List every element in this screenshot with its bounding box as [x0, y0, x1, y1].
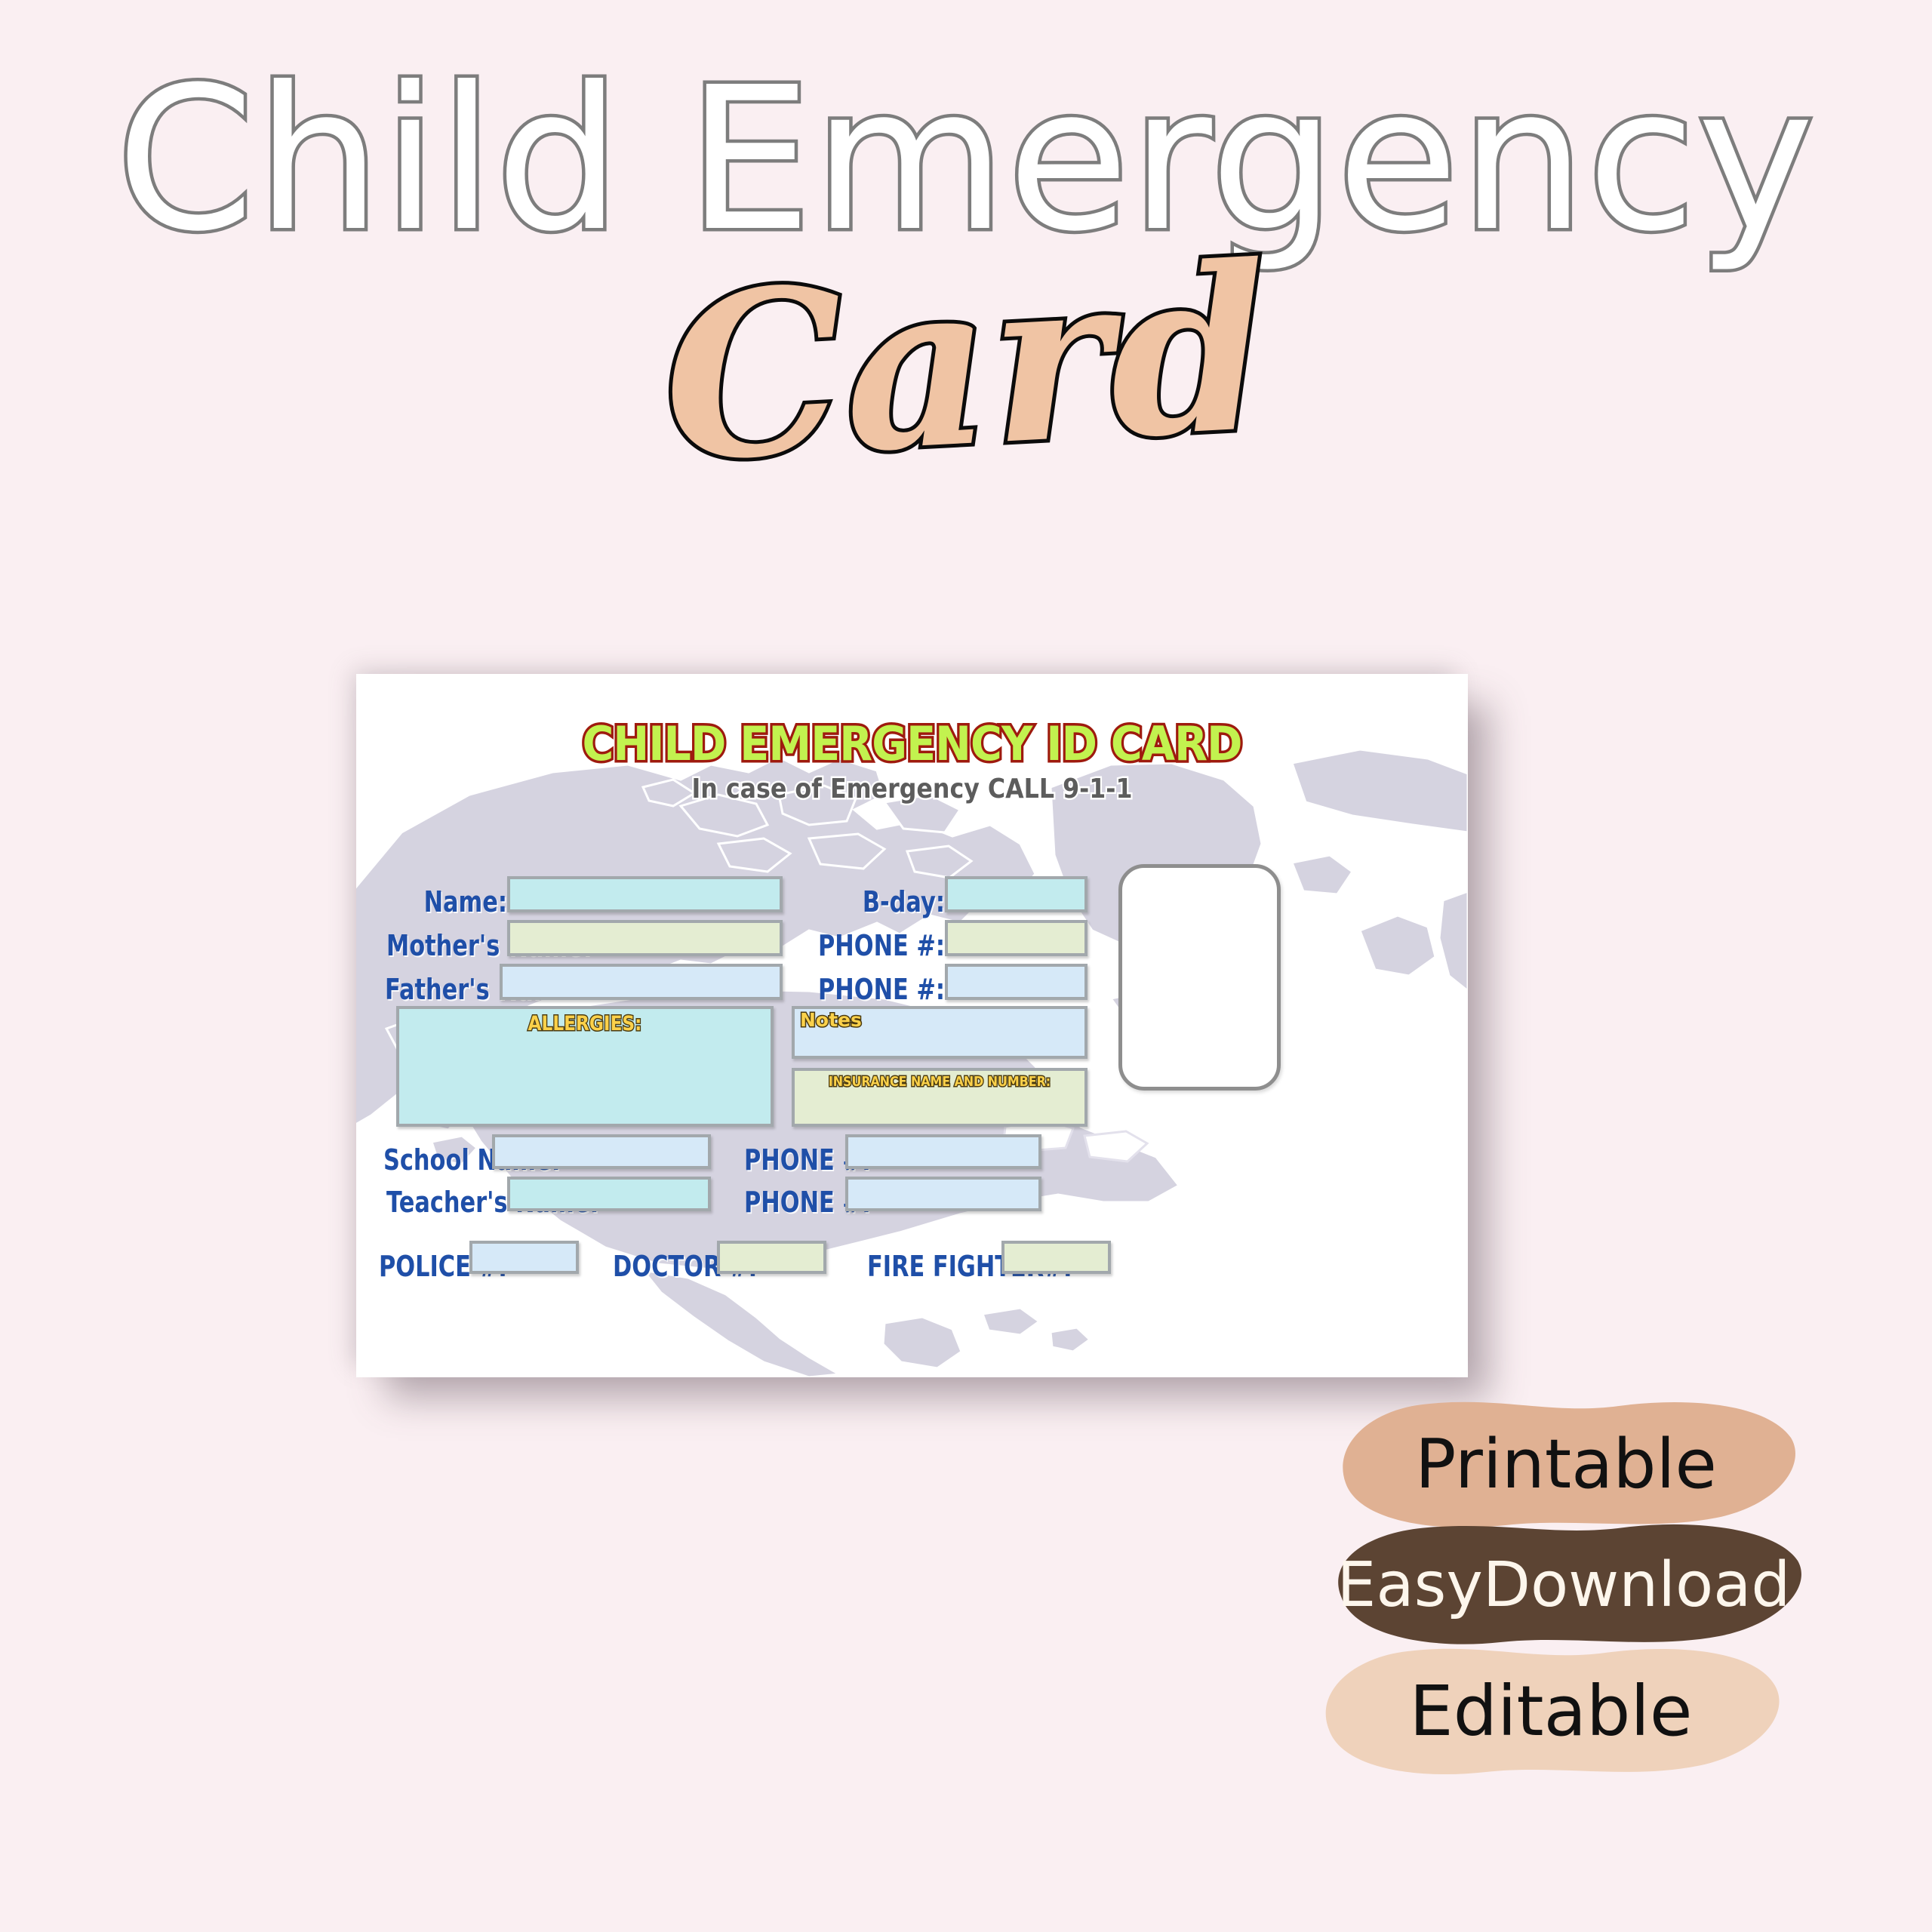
- badge-printable-label: Printable: [1415, 1425, 1717, 1504]
- doctor-input[interactable]: [717, 1241, 826, 1274]
- teacher-phone-input[interactable]: [845, 1177, 1041, 1211]
- fire-fighter-input[interactable]: [1001, 1241, 1111, 1274]
- badge-easydownload: EasyDownload: [1315, 1517, 1813, 1653]
- bday-input[interactable]: [945, 876, 1088, 912]
- teachers-name-input[interactable]: [507, 1177, 711, 1211]
- mothers-name-input[interactable]: [507, 920, 783, 956]
- label-insurance: INSURANCE NAME AND NUMBER:: [810, 1074, 1070, 1090]
- label-fathers-name: Father's Name:: [385, 975, 500, 1004]
- label-teacher-phone: PHONE #:: [744, 1188, 847, 1217]
- mother-phone-input[interactable]: [945, 920, 1088, 956]
- label-doctor: DOCTOR #:: [613, 1252, 718, 1281]
- police-input[interactable]: [469, 1241, 579, 1274]
- label-police: POLICE #:: [379, 1252, 469, 1281]
- badge-printable: Printable: [1324, 1392, 1807, 1536]
- name-input[interactable]: [507, 876, 783, 912]
- label-father-phone: PHONE #:: [818, 975, 945, 1004]
- photo-placeholder[interactable]: [1118, 864, 1281, 1091]
- badge-editable: Editable: [1309, 1638, 1792, 1785]
- label-teachers-name: Teacher's Name:: [386, 1188, 507, 1217]
- label-school-name: School Name:: [383, 1146, 492, 1174]
- badge-editable-label: Editable: [1409, 1671, 1692, 1752]
- label-school-phone: PHONE #:: [744, 1146, 847, 1174]
- label-mother-phone: PHONE #:: [818, 931, 945, 960]
- card-title: CHILD EMERGENCY ID CARD: [401, 716, 1423, 771]
- label-fire-fighter: FIRE FIGHTER#:: [867, 1252, 1003, 1281]
- school-phone-input[interactable]: [845, 1134, 1041, 1169]
- label-bday: B-day:: [818, 888, 945, 916]
- card-subtitle: In case of Emergency CALL 9-1-1: [423, 774, 1401, 804]
- label-notes: Notes: [800, 1009, 862, 1031]
- label-mothers-name: Mother's Name:: [386, 931, 507, 960]
- emergency-id-card: CHILD EMERGENCY ID CARD In case of Emerg…: [356, 674, 1468, 1377]
- school-name-input[interactable]: [492, 1134, 711, 1169]
- label-name: Name:: [386, 888, 507, 916]
- badge-easydownload-label: EasyDownload: [1337, 1549, 1791, 1621]
- father-phone-input[interactable]: [945, 964, 1088, 1000]
- label-allergies: ALLERGIES:: [423, 1012, 747, 1035]
- fathers-name-input[interactable]: [500, 964, 783, 1000]
